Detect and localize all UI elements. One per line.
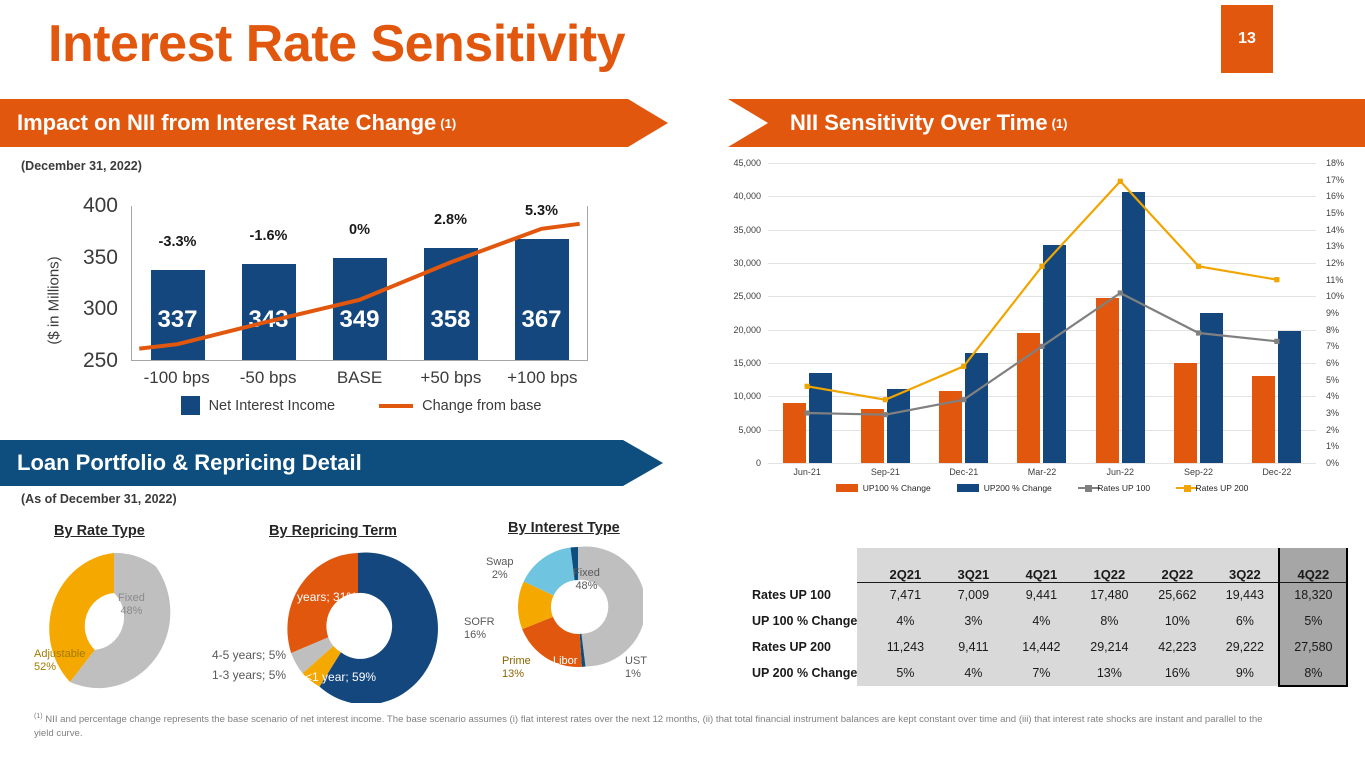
bar-chart-y-axis: 250300350400 <box>58 196 124 372</box>
nii-chart-x-tick: Sep-22 <box>1159 467 1237 477</box>
table-row-spacer <box>857 608 871 634</box>
nii-chart-y-tick-left: 30,000 <box>733 258 761 268</box>
nii-chart-y-tick-left: 25,000 <box>733 291 761 301</box>
bar-chart-bar-value: 349 <box>339 306 379 360</box>
nii-chart-y-tick-right: 1% <box>1326 441 1339 451</box>
nii-chart-line-marker <box>1196 264 1201 269</box>
nii-chart-line-marker <box>805 410 810 415</box>
impact-date-caption: (December 31, 2022) <box>21 159 142 173</box>
table-header-row: 2Q213Q214Q211Q222Q223Q224Q22 <box>752 548 1347 582</box>
bar-chart-pct-label: -3.3% <box>159 234 197 250</box>
donut-by-interest-type-title: By Interest Type <box>508 520 620 536</box>
table-row-spacer <box>857 634 871 660</box>
donut-by-rate-type-title: By Rate Type <box>54 523 145 539</box>
nii-chart-line-marker <box>1118 290 1123 295</box>
legend-item-change-from-base: Change from base <box>379 398 541 414</box>
table-column-header: 1Q22 <box>1075 548 1143 582</box>
donut-label-5plus-years: 5+ years; 31% <box>280 590 357 604</box>
nii-chart-line-marker <box>883 397 888 402</box>
banner-loan-portfolio: Loan Portfolio & Repricing Detail <box>0 440 663 486</box>
table-cell: 9,441 <box>1007 582 1075 608</box>
bar-chart-x-tick: BASE <box>314 368 405 388</box>
table-cell: 6% <box>1211 608 1279 634</box>
donut-by-rate-type-svg <box>34 548 194 703</box>
banner-loan-portfolio-label: Loan Portfolio & Repricing Detail <box>17 450 362 476</box>
table-row: Rates UP 1007,4717,0099,44117,48025,6621… <box>752 582 1347 608</box>
bar-chart-bar-value: 343 <box>248 306 288 360</box>
nii-chart-line-marker <box>1274 339 1279 344</box>
table-cell: 42,223 <box>1143 634 1211 660</box>
table-column-header: 2Q22 <box>1143 548 1211 582</box>
donut-by-rate-type: By Rate Type Fixed 48% Adjustable 52% <box>18 520 208 710</box>
table-row-spacer <box>857 582 871 608</box>
nii-chart-y-tick-left: 35,000 <box>733 225 761 235</box>
donut-label-1-3-years: 1-3 years; 5% <box>212 668 286 682</box>
nii-chart-y-tick-right: 4% <box>1326 391 1339 401</box>
bar-chart-x-tick: +100 bps <box>497 368 588 388</box>
banner-nii-over-time: NII Sensitivity Over Time (1) <box>728 99 1365 147</box>
table-row-label: UP 200 % Change <box>752 660 857 686</box>
bar-chart-y-tick: 350 <box>83 246 118 270</box>
bar-chart-y-tick: 300 <box>83 297 118 321</box>
table-cell: 11,243 <box>871 634 939 660</box>
legend-label-rates-up-200: Rates UP 200 <box>1196 483 1249 493</box>
legend-label-net-interest-income: Net Interest Income <box>209 398 336 414</box>
nii-chart-legend: UP100 % Change UP200 % Change Rates UP 1… <box>768 483 1316 493</box>
table-column-header: 3Q22 <box>1211 548 1279 582</box>
table-cell: 4% <box>939 660 1007 686</box>
table-cell: 27,580 <box>1279 634 1347 660</box>
table-cell: 8% <box>1279 660 1347 686</box>
footnote: (1) NII and percentage change represents… <box>34 712 1274 741</box>
table-cell: 16% <box>1143 660 1211 686</box>
table-cell: 29,222 <box>1211 634 1279 660</box>
nii-chart-y-tick-left: 40,000 <box>733 191 761 201</box>
nii-chart-line-marker <box>1118 179 1123 184</box>
donut-charts-section: By Rate Type Fixed 48% Adjustable 52% By… <box>0 520 700 710</box>
nii-chart-y-tick-right: 13% <box>1326 241 1344 251</box>
table-row-label: Rates UP 100 <box>752 582 857 608</box>
table-row: UP 100 % Change4%3%4%8%10%6%5% <box>752 608 1347 634</box>
table-cell: 13% <box>1075 660 1143 686</box>
bar-chart-column: 3675.3% <box>496 206 587 360</box>
nii-chart-y-tick-right: 11% <box>1326 275 1343 285</box>
swatch-up100-icon <box>836 484 858 492</box>
bar-chart-y-tick: 250 <box>83 349 118 373</box>
table-cell: 17,480 <box>1075 582 1143 608</box>
bar-chart-bar: 367 <box>515 239 569 360</box>
nii-chart-gridline <box>768 463 1316 464</box>
nii-chart-line-marker <box>961 364 966 369</box>
nii-chart-y-tick-right: 10% <box>1326 291 1344 301</box>
rates-sensitivity-table: 2Q213Q214Q211Q222Q223Q224Q22 Rates UP 10… <box>752 548 1348 687</box>
nii-chart-line-marker <box>961 397 966 402</box>
swatch-rates-up-200-icon <box>1176 485 1191 492</box>
chart-impact-on-nii: ($ in Millions) 250300350400 337-3.3%343… <box>18 196 618 426</box>
page-title: Interest Rate Sensitivity <box>48 14 625 74</box>
nii-chart-line-marker <box>1039 264 1044 269</box>
nii-chart-y-tick-right: 2% <box>1326 425 1339 435</box>
nii-chart-line-marker <box>1196 330 1201 335</box>
bar-chart-y-tick: 400 <box>83 194 118 218</box>
bar-chart-bar-value: 358 <box>430 306 470 360</box>
nii-chart-x-tick: Jun-21 <box>768 467 846 477</box>
bar-chart-x-axis: -100 bps-50 bpsBASE+50 bps+100 bps <box>131 368 588 388</box>
nii-chart-y-tick-right: 0% <box>1326 458 1339 468</box>
legend-item-rates-up-100: Rates UP 100 <box>1078 483 1150 493</box>
donut-label-4-5-years: 4-5 years; 5% <box>212 648 286 662</box>
nii-chart-y-tick-right: 16% <box>1326 191 1344 201</box>
nii-chart-y-tick-right: 12% <box>1326 258 1344 268</box>
table-cell: 9,411 <box>939 634 1007 660</box>
nii-chart-y-tick-right: 14% <box>1326 225 1344 235</box>
swatch-line-icon <box>379 404 413 408</box>
footnote-marker: (1) <box>34 713 43 720</box>
donut-label-fixed: Fixed 48% <box>118 592 145 618</box>
table-row-label: UP 100 % Change <box>752 608 857 634</box>
table-cell: 7,471 <box>871 582 939 608</box>
nii-chart-plot-area: 05,00010,00015,00020,00025,00030,00035,0… <box>768 163 1316 463</box>
bar-chart-pct-label: 2.8% <box>434 212 467 228</box>
banner-impact-on-nii: Impact on NII from Interest Rate Change … <box>0 99 668 147</box>
table-cell: 18,320 <box>1279 582 1347 608</box>
banner-nii-over-time-sup: (1) <box>1052 116 1068 131</box>
donut-label-swap: Swap 2% <box>486 556 514 582</box>
bar-chart-bar: 358 <box>424 248 478 360</box>
loan-date-caption: (As of December 31, 2022) <box>21 492 177 506</box>
table-cell: 9% <box>1211 660 1279 686</box>
legend-label-rates-up-100: Rates UP 100 <box>1097 483 1150 493</box>
nii-chart-y-tick-left: 10,000 <box>733 391 761 401</box>
nii-chart-y-tick-right: 3% <box>1326 408 1339 418</box>
table-cell: 7% <box>1007 660 1075 686</box>
nii-chart-y-tick-right: 5% <box>1326 375 1339 385</box>
nii-chart-x-tick: Mar-22 <box>1003 467 1081 477</box>
table-cell: 29,214 <box>1075 634 1143 660</box>
table-body: Rates UP 1007,4717,0099,44117,48025,6621… <box>752 582 1347 686</box>
table-cell: 5% <box>871 660 939 686</box>
swatch-bar-icon <box>181 396 200 415</box>
nii-chart-y-tick-right: 18% <box>1326 158 1344 168</box>
page-number-badge: 13 <box>1221 5 1273 73</box>
bar-chart-plot-area: 337-3.3%343-1.6%3490%3582.8%3675.3% <box>131 206 588 361</box>
nii-chart-line-path <box>807 181 1277 399</box>
table-column-header: 4Q21 <box>1007 548 1075 582</box>
donut-by-interest-type: By Interest Type Swap <box>470 520 685 710</box>
banner-nii-over-time-label: NII Sensitivity Over Time <box>790 110 1048 136</box>
table-cell: 4% <box>1007 608 1075 634</box>
table-column-header: 4Q22 <box>1279 548 1347 582</box>
bar-chart-column: 337-3.3% <box>132 206 223 360</box>
bar-chart-column: 3490% <box>314 206 405 360</box>
table-row-spacer <box>857 660 871 686</box>
donut-label-adjustable: Adjustable 52% <box>34 648 85 674</box>
nii-chart-x-axis: Jun-21Sep-21Dec-21Mar-22Jun-22Sep-22Dec-… <box>768 467 1316 477</box>
swatch-rates-up-100-icon <box>1078 485 1093 492</box>
donut-label-under-1-year: <1 year; 59% <box>305 670 376 684</box>
bar-chart-bar: 349 <box>333 258 387 360</box>
table-header-corner <box>752 548 857 582</box>
footnote-text: NII and percentage change represents the… <box>34 714 1263 739</box>
bar-chart-x-tick: -50 bps <box>222 368 313 388</box>
legend-item-rates-up-200: Rates UP 200 <box>1176 483 1248 493</box>
nii-chart-line-marker <box>805 384 810 389</box>
nii-chart-line-path <box>807 293 1277 415</box>
table-row: UP 200 % Change5%4%7%13%16%9%8% <box>752 660 1347 686</box>
nii-chart-y-tick-right: 9% <box>1326 308 1339 318</box>
banner-impact-on-nii-label: Impact on NII from Interest Rate Change <box>17 110 436 136</box>
legend-label-up100: UP100 % Change <box>863 483 931 493</box>
nii-chart-y-tick-left: 45,000 <box>733 158 761 168</box>
nii-chart-y-tick-left: 20,000 <box>733 325 761 335</box>
bar-chart-x-tick: +50 bps <box>405 368 496 388</box>
nii-chart-y-tick-right: 15% <box>1326 208 1344 218</box>
table-cell: 14,442 <box>1007 634 1075 660</box>
bar-chart-pct-label: 0% <box>349 222 370 238</box>
nii-chart-line-marker <box>1039 344 1044 349</box>
table-column-header: 2Q21 <box>871 548 939 582</box>
bar-chart-bar: 343 <box>242 264 296 360</box>
table-cell: 8% <box>1075 608 1143 634</box>
legend-label-change-from-base: Change from base <box>422 398 541 414</box>
nii-chart-x-tick: Jun-22 <box>1081 467 1159 477</box>
bar-chart-pct-label: 5.3% <box>525 203 558 219</box>
bar-chart-bars: 337-3.3%343-1.6%3490%3582.8%3675.3% <box>132 206 587 360</box>
table-row-label: Rates UP 200 <box>752 634 857 660</box>
bar-chart-bar: 337 <box>151 270 205 360</box>
table-cell: 5% <box>1279 608 1347 634</box>
bar-chart-column: 343-1.6% <box>223 206 314 360</box>
donut-label-libor: Libor 20% <box>553 655 577 681</box>
table-cell: 25,662 <box>1143 582 1211 608</box>
table-column-header: 3Q21 <box>939 548 1007 582</box>
legend-item-up100-change: UP100 % Change <box>836 483 931 493</box>
donut-by-repricing-term-title: By Repricing Term <box>269 523 397 539</box>
nii-chart-rate-lines <box>768 163 1316 463</box>
nii-chart-y-tick-right: 17% <box>1326 175 1344 185</box>
table-cell: 19,443 <box>1211 582 1279 608</box>
bar-chart-x-tick: -100 bps <box>131 368 222 388</box>
nii-chart-line-marker <box>883 412 888 417</box>
nii-chart-y-tick-left: 15,000 <box>733 358 761 368</box>
nii-chart-y-tick-right: 8% <box>1326 325 1339 335</box>
table-cell: 7,009 <box>939 582 1007 608</box>
legend-label-up200: UP200 % Change <box>984 483 1052 493</box>
donut-label-sofr: SOFR 16% <box>464 616 495 642</box>
nii-chart-y-tick-right: 7% <box>1326 341 1339 351</box>
bar-chart-bar-value: 337 <box>157 306 197 360</box>
legend-item-up200-change: UP200 % Change <box>957 483 1052 493</box>
nii-chart-y-tick-right: 6% <box>1326 358 1339 368</box>
bar-chart-pct-label: -1.6% <box>250 228 288 244</box>
donut-by-repricing-term: By Repricing Term 5+ years; 31% 4-5 year… <box>225 520 455 710</box>
table-cell: 4% <box>871 608 939 634</box>
table-row: Rates UP 20011,2439,41114,44229,21442,22… <box>752 634 1347 660</box>
legend-item-net-interest-income: Net Interest Income <box>181 396 336 415</box>
table-cell: 10% <box>1143 608 1211 634</box>
nii-chart-y-tick-left: 0 <box>756 458 761 468</box>
bar-chart-legend: Net Interest Income Change from base <box>131 396 591 415</box>
swatch-up200-icon <box>957 484 979 492</box>
donut-label-ust: UST 1% <box>625 655 647 681</box>
nii-chart-x-tick: Sep-21 <box>846 467 924 477</box>
nii-chart-x-tick: Dec-21 <box>925 467 1003 477</box>
nii-chart-x-tick: Dec-22 <box>1238 467 1316 477</box>
bar-chart-column: 3582.8% <box>405 206 496 360</box>
table-cell: 3% <box>939 608 1007 634</box>
donut-by-interest-type-svg <box>513 542 643 672</box>
banner-impact-on-nii-sup: (1) <box>440 116 456 131</box>
table-header-spacer <box>857 548 871 582</box>
donut-label-fixed-interest: Fixed 48% <box>573 567 600 593</box>
nii-chart-line-marker <box>1274 277 1279 282</box>
nii-chart-y-tick-left: 5,000 <box>738 425 761 435</box>
bar-chart-bar-value: 367 <box>521 306 561 360</box>
slide-root: Interest Rate Sensitivity 13 Impact on N… <box>0 0 1365 768</box>
donut-label-prime: Prime 13% <box>502 655 531 681</box>
chart-nii-sensitivity-over-time: 05,00010,00015,00020,00025,00030,00035,0… <box>728 155 1365 500</box>
